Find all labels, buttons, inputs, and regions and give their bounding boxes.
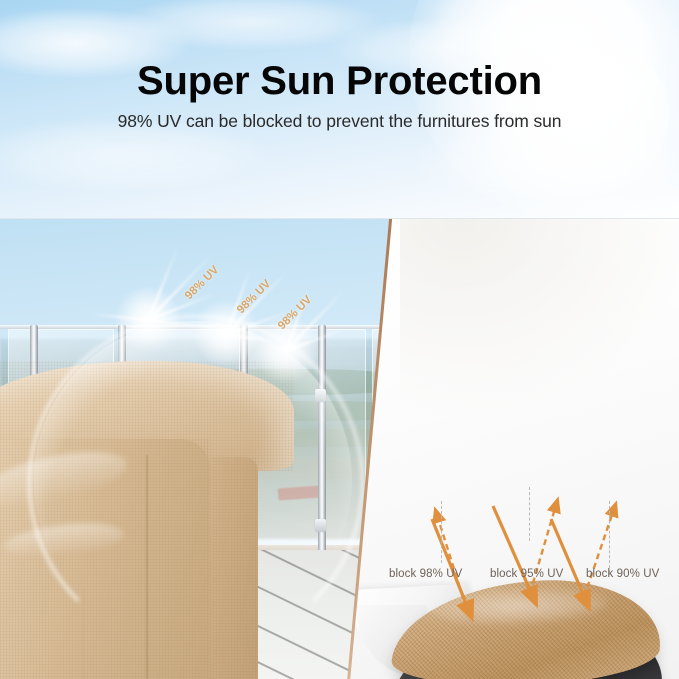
- leader-line-3: [609, 501, 610, 573]
- leader-line-2: [529, 487, 530, 541]
- panels-container: 98% UV 98% UV 98% UV: [0, 218, 679, 679]
- page-subtitle: 98% UV can be blocked to prevent the fur…: [0, 111, 679, 132]
- page-title: Super Sun Protection: [0, 56, 679, 106]
- product-feature-image: Super Sun Protection 98% UV can be block…: [0, 0, 679, 679]
- header-sky-banner: [0, 0, 679, 218]
- incoming-uv-arrow: [493, 506, 533, 597]
- block-label-95: block 95% UV: [490, 568, 563, 580]
- block-label-90: block 90% UV: [586, 568, 659, 580]
- leader-line-1: [441, 501, 442, 563]
- block-label-98: block 98% UV: [389, 568, 462, 580]
- incoming-uv-arrow: [551, 519, 586, 601]
